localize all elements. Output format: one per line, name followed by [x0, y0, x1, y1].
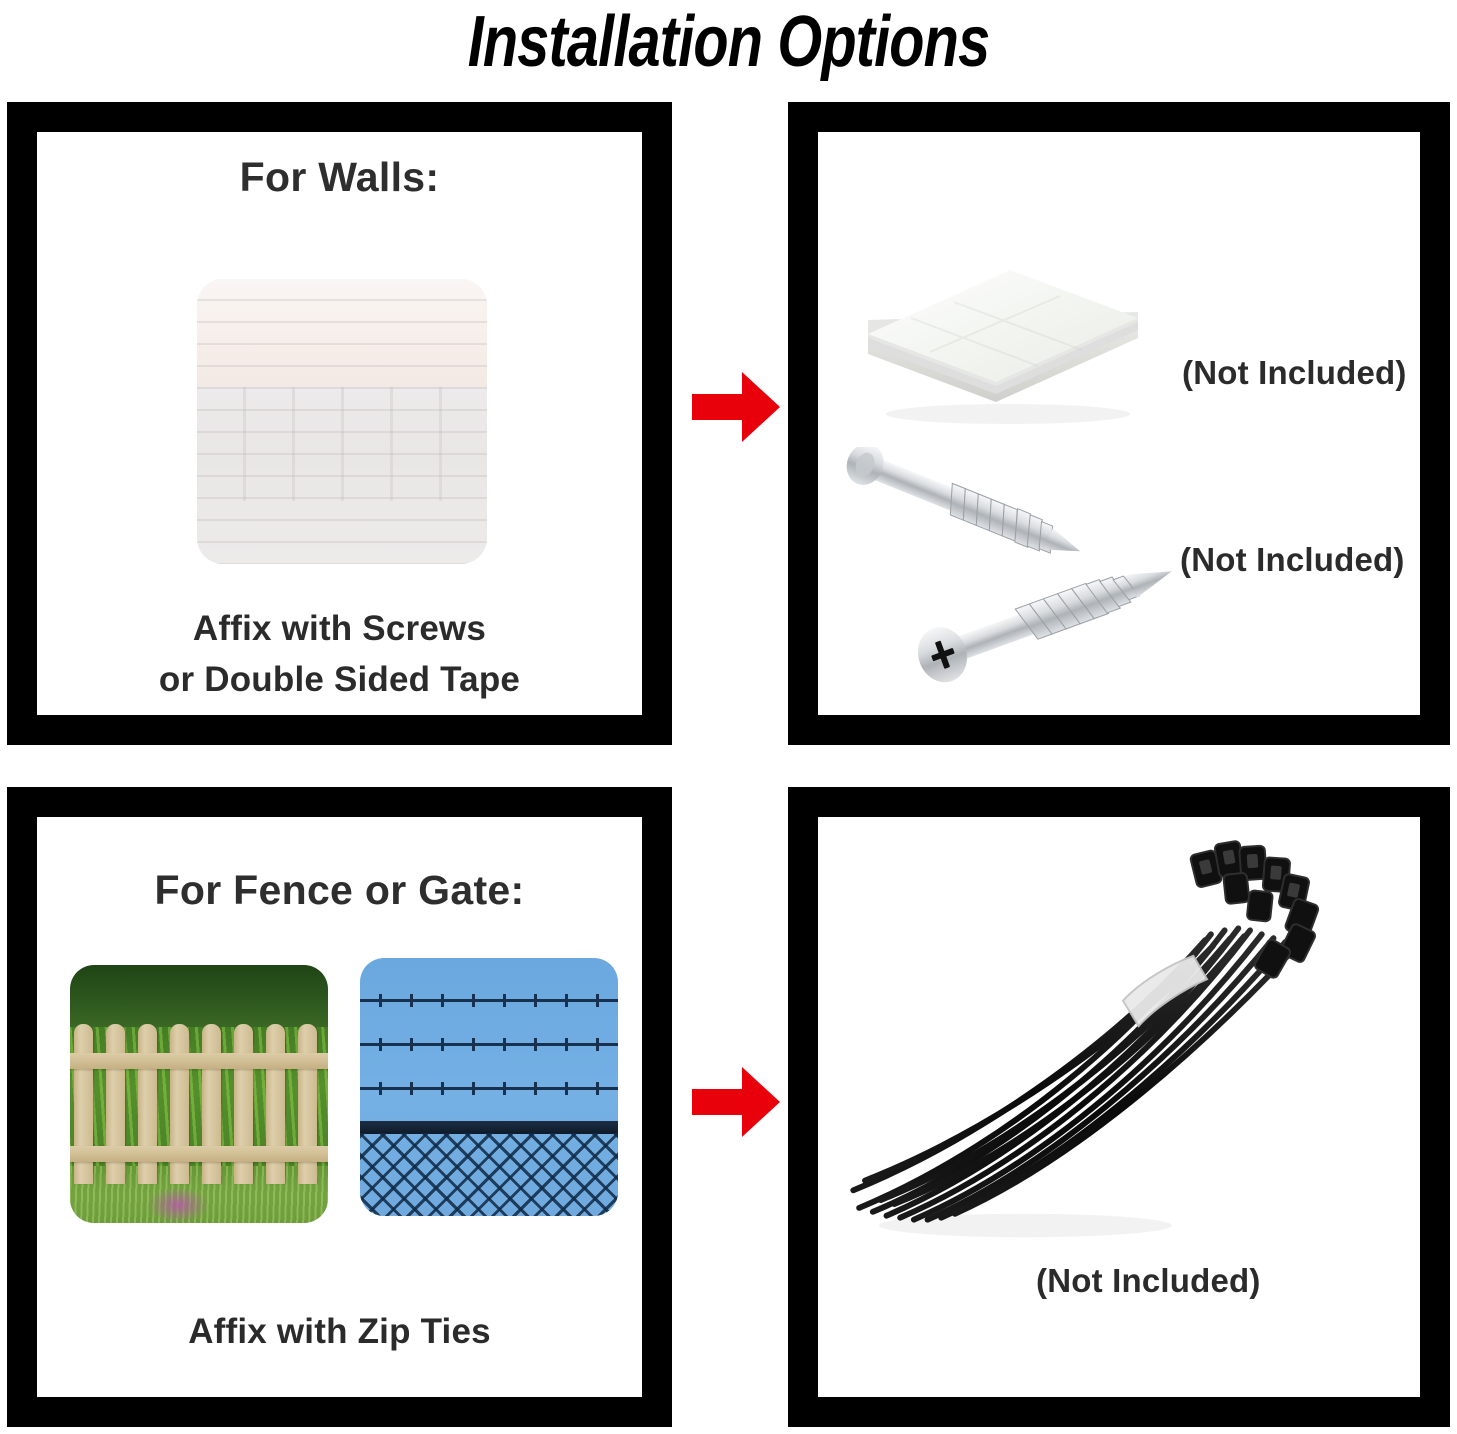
for-walls-caption: Affix with Screws or Double Sided Tape — [37, 604, 642, 706]
for-fence-caption-line1: Affix with Zip Ties — [188, 1312, 491, 1351]
panel-for-walls-content: For Walls: Affix with Screws or Double S… — [37, 132, 642, 715]
page-title: Installation Options — [146, 2, 1312, 83]
panel-wall-hardware: (Not Included) — [788, 102, 1450, 745]
panel-for-walls: For Walls: Affix with Screws or Double S… — [7, 102, 672, 745]
zipties-not-included-label: (Not Included) — [1036, 1262, 1261, 1300]
panel-wall-hardware-content: (Not Included) — [818, 132, 1420, 715]
red-right-arrow-icon — [690, 368, 782, 446]
zip-tie-bundle-icon — [828, 817, 1418, 1252]
panel-zip-ties-content: (Not Included) — [818, 817, 1420, 1397]
for-fence-heading: For Fence or Gate: — [37, 867, 642, 914]
chain-link-barbed-wire-fence-photo — [360, 958, 618, 1216]
for-walls-caption-line2: or Double Sided Tape — [159, 660, 520, 699]
for-walls-caption-line1: Affix with Screws — [193, 609, 486, 648]
screws-not-included-label: (Not Included) — [1180, 541, 1405, 579]
red-right-arrow-icon — [690, 1063, 782, 1141]
double-sided-tape-stack-icon — [848, 242, 1148, 437]
for-walls-heading: For Walls: — [37, 154, 642, 201]
for-fence-caption: Affix with Zip Ties — [37, 1307, 642, 1358]
wooden-picket-fence-photo — [70, 965, 328, 1223]
white-brick-wall-photo — [197, 279, 487, 564]
panel-zip-ties: (Not Included) — [788, 787, 1450, 1427]
tape-not-included-label: (Not Included) — [1182, 354, 1407, 392]
